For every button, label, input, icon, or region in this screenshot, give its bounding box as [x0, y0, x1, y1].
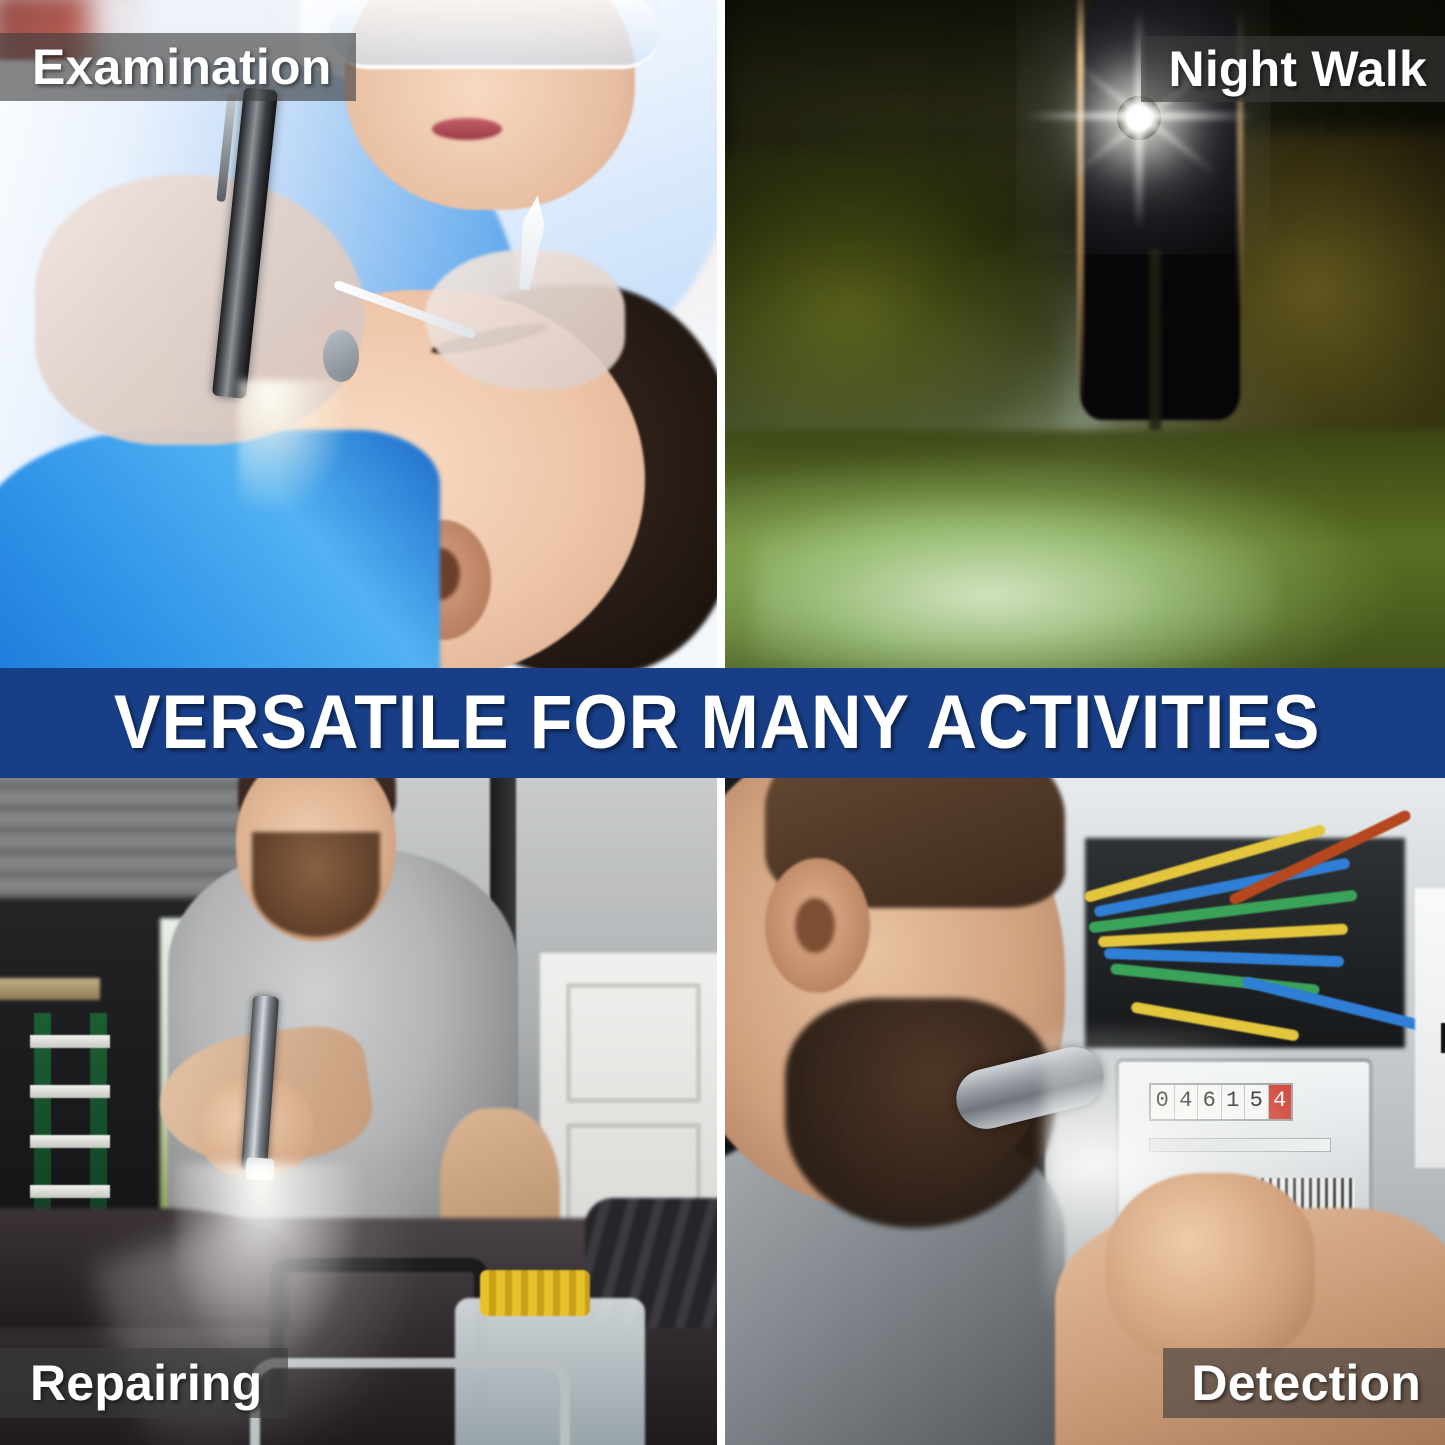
- caption-repairing: Repairing: [0, 1348, 288, 1418]
- quadrant-repairing: [0, 778, 717, 1445]
- blue-drape: [0, 430, 440, 668]
- wall-shelf: [0, 978, 100, 1000]
- headline-text: VERSATILE FOR MANY ACTIVITIES: [114, 685, 1331, 761]
- ladder-rung: [30, 1185, 110, 1198]
- caption-repairing-label: Repairing: [30, 1354, 262, 1412]
- flashlight-beam-core: [1117, 96, 1161, 140]
- technician-ear-canal: [795, 898, 835, 953]
- dentist-lips: [432, 118, 502, 140]
- ladder-rung: [30, 1085, 110, 1098]
- reservoir-cap: [480, 1270, 590, 1316]
- ground-light-pool: [755, 500, 1275, 668]
- technician-fist: [1105, 1173, 1315, 1363]
- quadrant-detection: 046154: [725, 778, 1445, 1445]
- caption-detection: Detection: [1163, 1348, 1445, 1418]
- caption-detection-label: Detection: [1191, 1354, 1421, 1412]
- panel-wire: [1104, 948, 1344, 967]
- panel-wire: [1241, 976, 1423, 1031]
- ladder-rung: [30, 1035, 110, 1048]
- walker-leg-gap: [1149, 250, 1161, 430]
- wire-bundle: [1070, 848, 1430, 1058]
- caption-examination-label: Examination: [32, 38, 332, 96]
- column-divider-bottom: [717, 778, 725, 1445]
- caption-examination: Examination: [0, 33, 356, 101]
- penlight-beam: [238, 380, 348, 510]
- product-feature-poster: 046154 Examination Night Walk Repairing …: [0, 0, 1445, 1445]
- caption-night-walk-label: Night Walk: [1169, 40, 1427, 98]
- safety-goggles: [330, 0, 660, 69]
- mechanic-beard: [252, 832, 380, 937]
- caption-night-walk: Night Walk: [1141, 36, 1445, 102]
- penlight-beam: [175, 1163, 365, 1373]
- column-divider-top: [717, 0, 725, 668]
- detection-scene: 046154: [725, 778, 1445, 1445]
- repairing-scene: [0, 778, 717, 1445]
- mouth-mirror-head: [323, 330, 359, 382]
- panel-barcode: [1441, 1023, 1445, 1053]
- door-panel-upper: [566, 983, 701, 1103]
- headline-banner: VERSATILE FOR MANY ACTIVITIES: [0, 668, 1445, 778]
- ladder-rung: [30, 1135, 110, 1148]
